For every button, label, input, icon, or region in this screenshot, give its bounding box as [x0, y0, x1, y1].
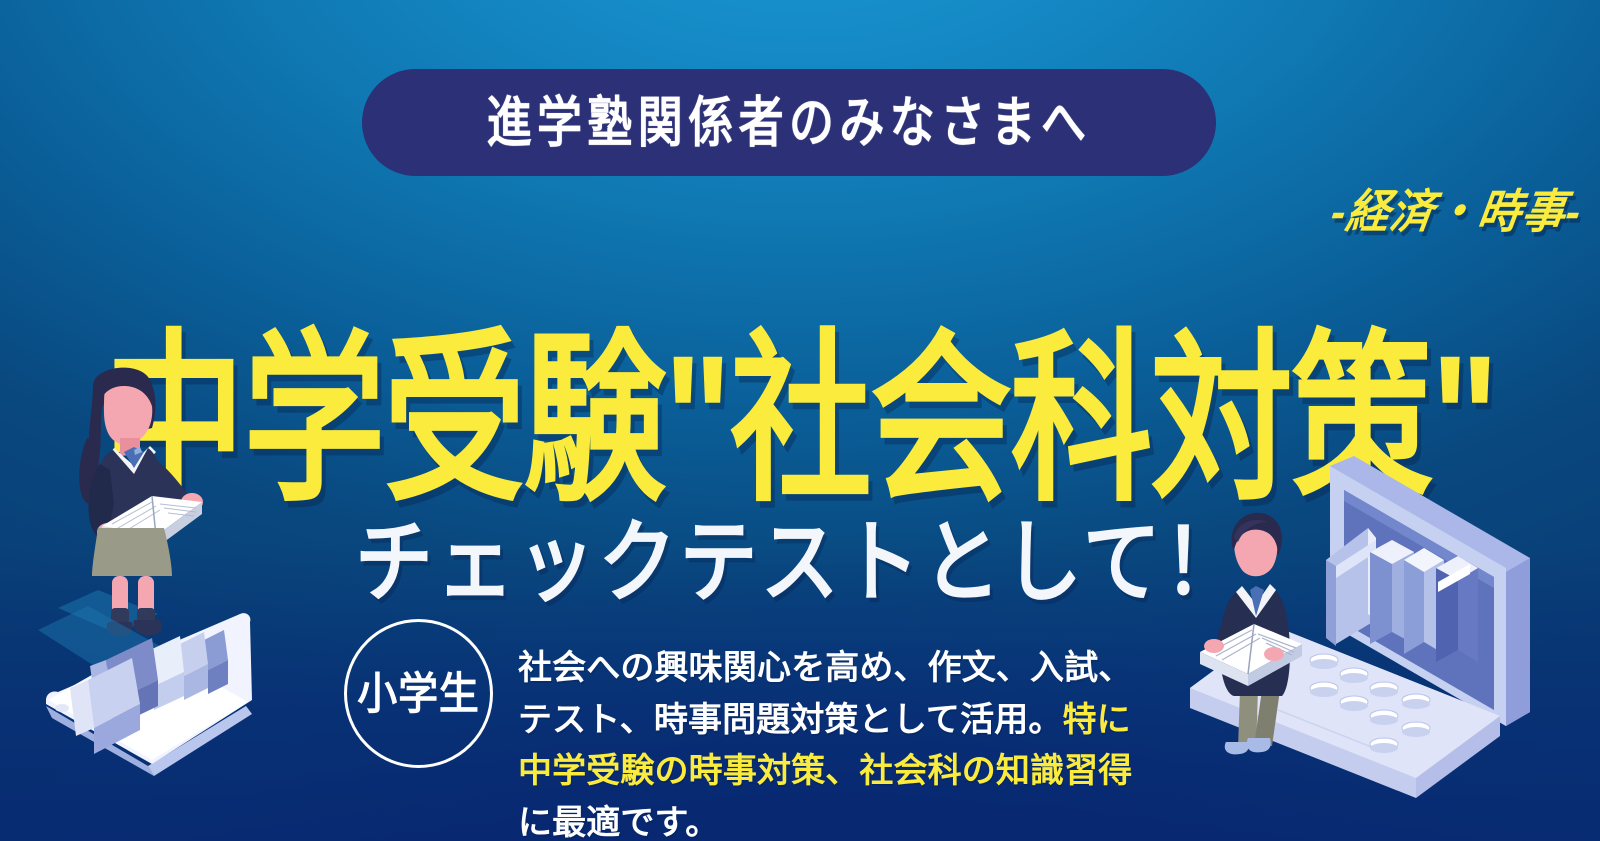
tablet-with-books-illustration	[28, 588, 318, 813]
description-segment-2: に最適です。	[518, 804, 719, 841]
grade-badge: 小学生	[344, 619, 493, 768]
category-tag: -経済・時事-	[1328, 175, 1587, 242]
description-text: 社会への興味関心を高め、作文、入試、テスト、時事問題対策として活用。特に中学受験…	[518, 643, 1138, 841]
grade-badge-label: 小学生	[357, 672, 479, 716]
laptop-bookshelf-illustration	[1178, 438, 1598, 841]
laptop-bookshelf-icon	[1178, 438, 1598, 841]
promo-banner: 進学塾関係者のみなさまへ -経済・時事- 中学受験"社会科対策" チェックテスト…	[0, 0, 1600, 841]
eyebrow-label: 進学塾関係者のみなさまへ	[487, 95, 1092, 150]
description-segment-1: 社会への興味関心を高め、作文、入試、テスト、時事問題対策として活用。	[518, 649, 1132, 739]
tablet-with-books-icon	[28, 588, 318, 813]
eyebrow-pill: 進学塾関係者のみなさまへ	[362, 69, 1216, 176]
